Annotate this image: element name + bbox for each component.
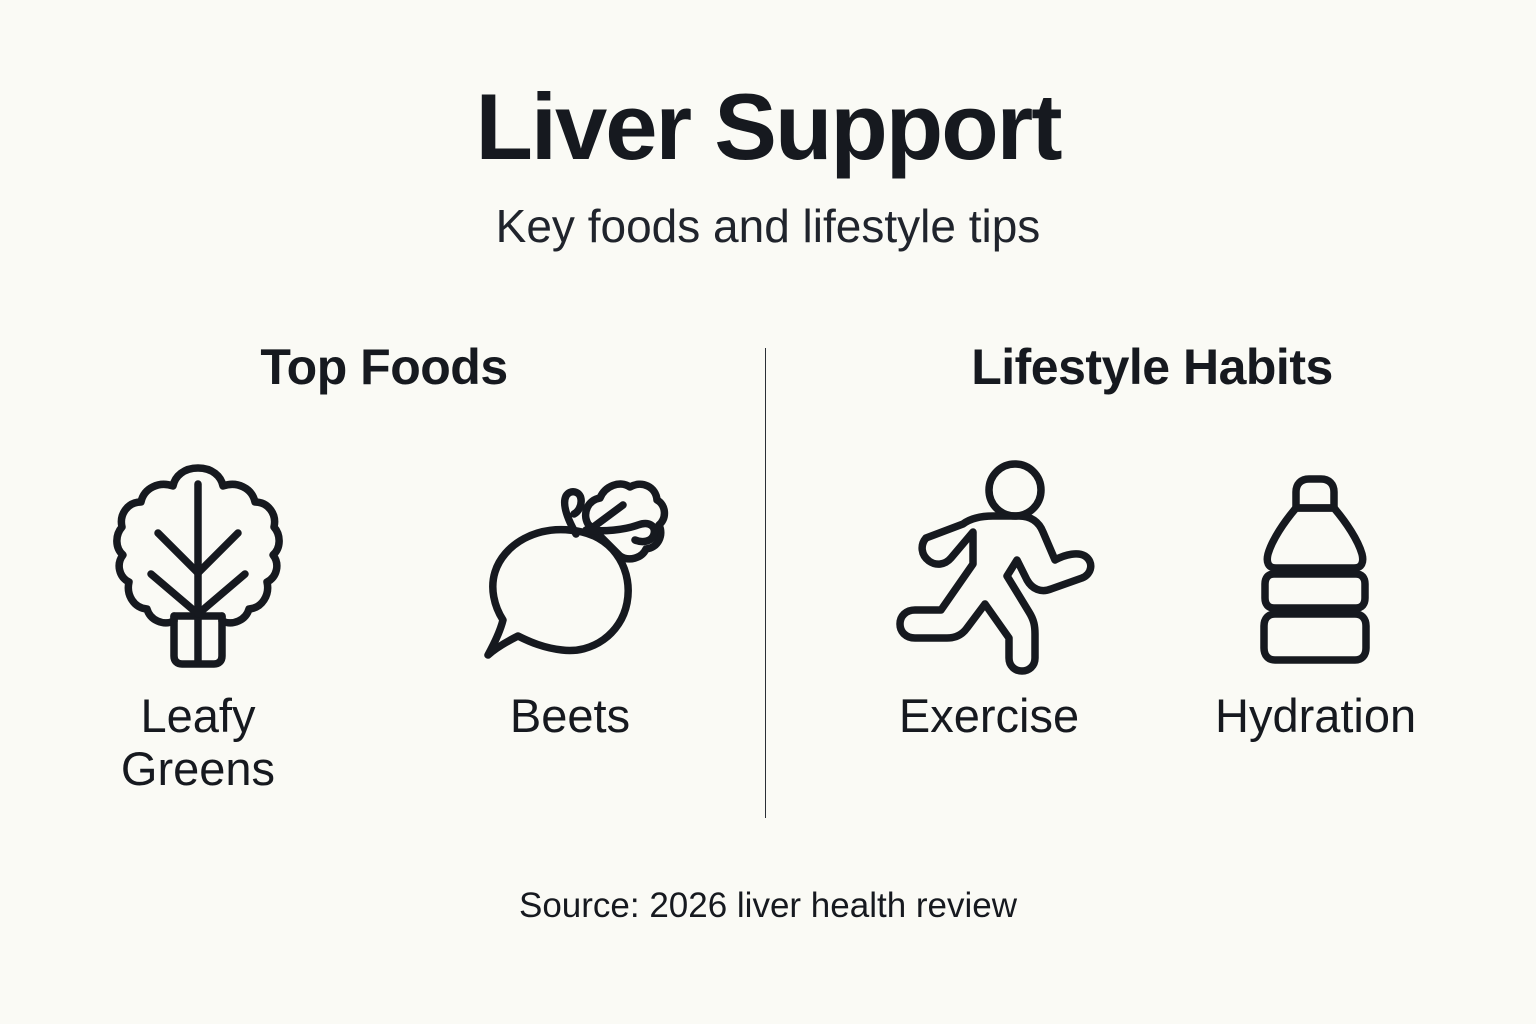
source-note: Source: 2026 liver health review bbox=[0, 886, 1536, 926]
lifestyle-habits-items: Exercise bbox=[768, 449, 1536, 742]
column-heading-lifestyle-habits: Lifestyle Habits bbox=[971, 340, 1333, 395]
item-beets: Beets bbox=[455, 449, 685, 795]
running-person-icon bbox=[889, 449, 1089, 677]
item-label: Beets bbox=[510, 689, 630, 742]
columns-container: Top Foods bbox=[0, 340, 1536, 830]
item-label: Leafy Greens bbox=[83, 689, 313, 795]
item-hydration: Hydration bbox=[1200, 449, 1430, 742]
footer: Source: 2026 liver health review bbox=[0, 886, 1536, 926]
infographic-poster: Liver Support Key foods and lifestyle ti… bbox=[0, 0, 1536, 1024]
water-bottle-icon bbox=[1250, 449, 1380, 677]
column-lifestyle-habits: Lifestyle Habits Exercise bbox=[768, 340, 1536, 830]
header: Liver Support Key foods and lifestyle ti… bbox=[0, 78, 1536, 254]
leafy-green-icon bbox=[113, 449, 283, 677]
item-leafy-greens: Leafy Greens bbox=[83, 449, 313, 795]
column-top-foods: Top Foods bbox=[0, 340, 768, 830]
page-title: Liver Support bbox=[0, 78, 1536, 177]
top-foods-items: Leafy Greens bbox=[0, 449, 768, 795]
page-subtitle: Key foods and lifestyle tips bbox=[0, 199, 1536, 254]
beet-icon bbox=[470, 449, 670, 677]
item-label: Hydration bbox=[1215, 689, 1415, 742]
column-heading-top-foods: Top Foods bbox=[260, 340, 507, 395]
item-label: Exercise bbox=[899, 689, 1079, 742]
item-exercise: Exercise bbox=[874, 449, 1104, 742]
